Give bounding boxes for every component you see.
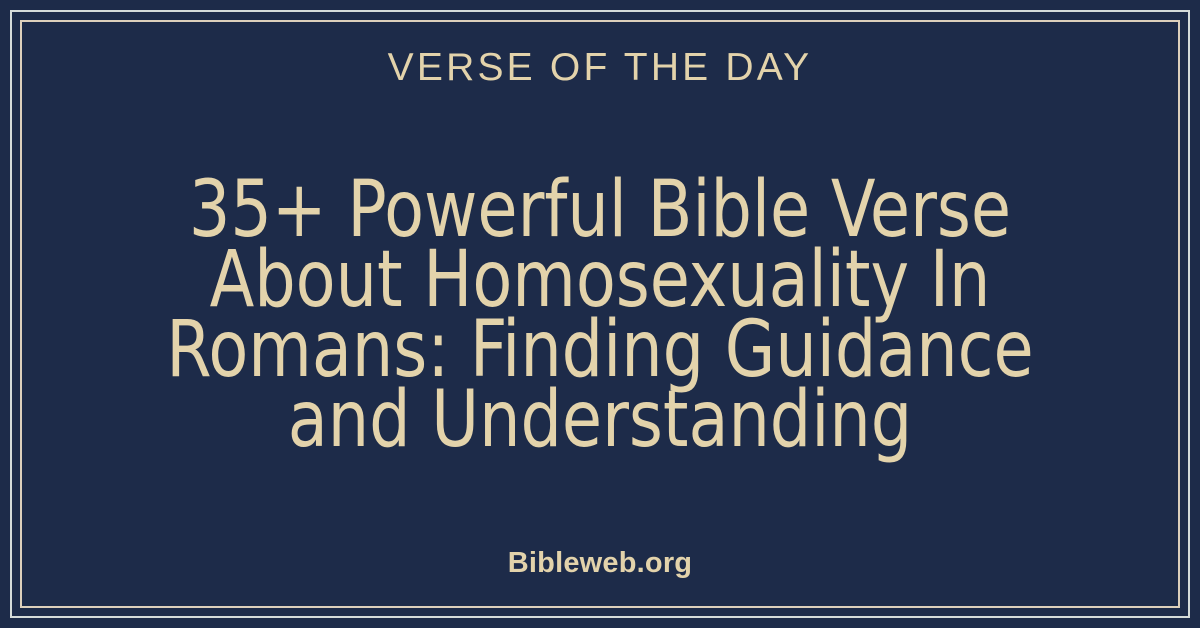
- verse-of-the-day-card: VERSE OF THE DAY 35+ Powerful Bible Vers…: [0, 0, 1200, 628]
- site-footer: Bibleweb.org: [508, 549, 692, 578]
- card-content: VERSE OF THE DAY 35+ Powerful Bible Vers…: [26, 26, 1174, 602]
- page-title: 35+ Powerful Bible Verse About Homosexua…: [154, 175, 1047, 455]
- title-container: 35+ Powerful Bible Verse About Homosexua…: [26, 81, 1174, 549]
